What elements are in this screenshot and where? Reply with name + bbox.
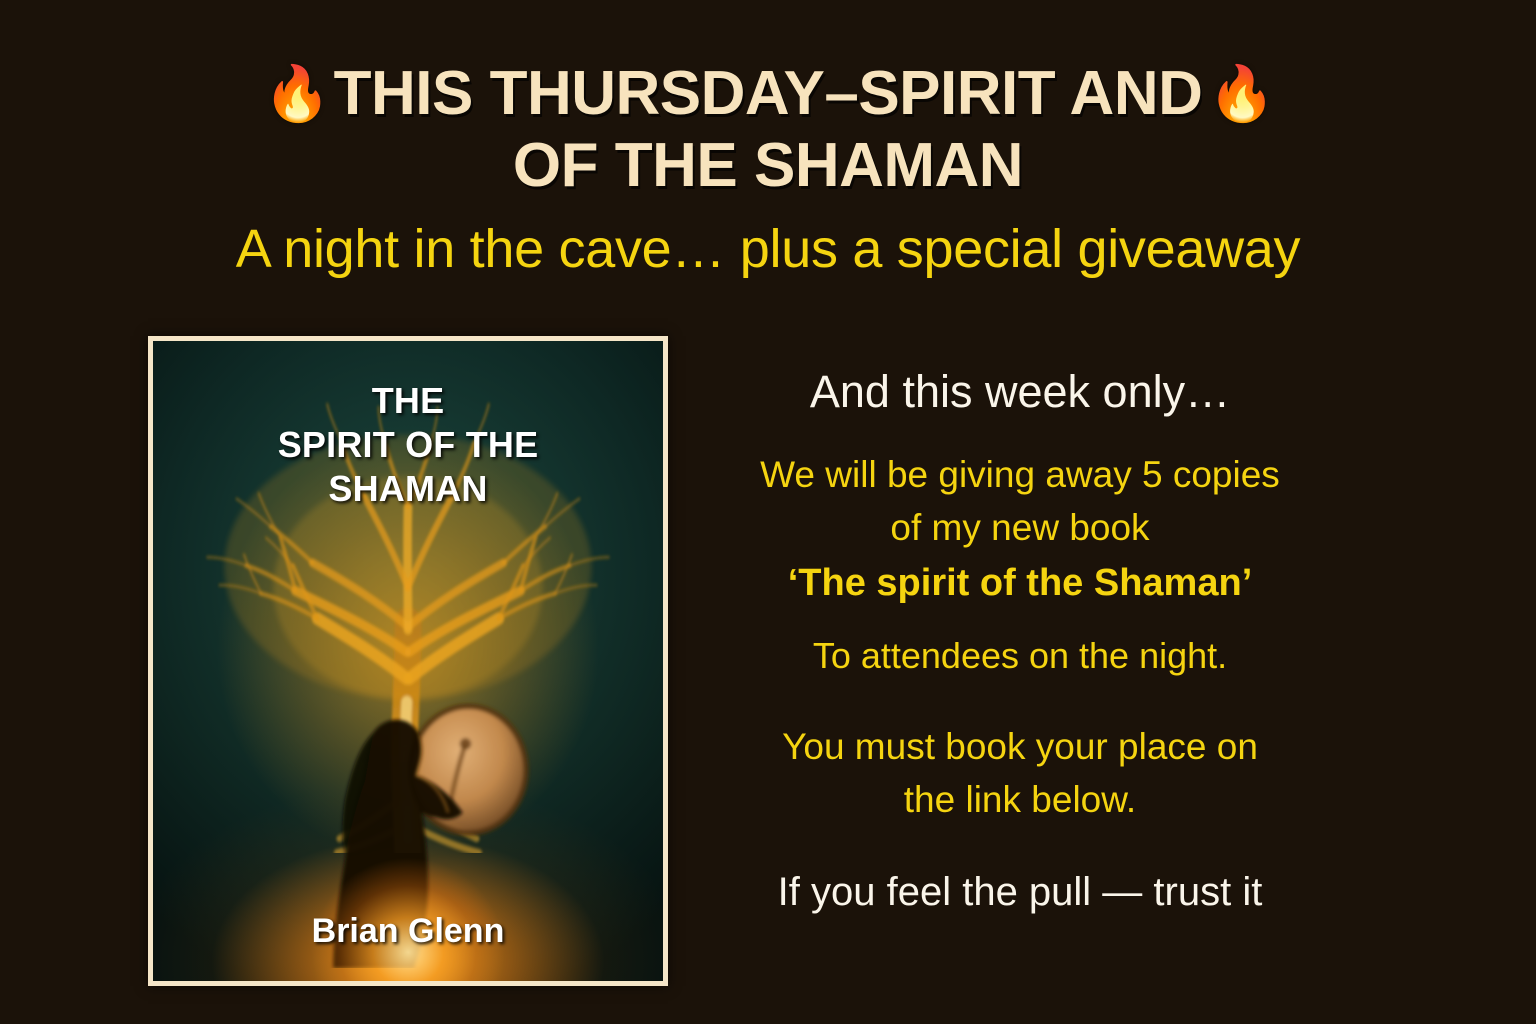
promo-line-2: of my new book	[690, 501, 1350, 554]
promo-line-3: To attendees on the night.	[690, 632, 1350, 680]
cover-title-line-1: THE	[153, 379, 663, 423]
promo-line-5: the link below.	[690, 773, 1350, 826]
promo-closing: If you feel the pull — trust it	[690, 866, 1350, 918]
fire-icon: 🔥	[264, 67, 328, 121]
cover-title: THE SPIRIT OF THE SHAMAN	[153, 379, 663, 511]
promo-book-title: ‘The spirit of the Shaman’	[690, 554, 1350, 612]
promo-column: And this week only… We will be giving aw…	[690, 364, 1350, 918]
main-title-line-2: OF THE SHAMAN	[0, 130, 1536, 202]
spacer	[690, 612, 1350, 632]
cover-author: Brian Glenn	[153, 911, 663, 951]
promo-line-4: You must book your place on	[690, 720, 1350, 773]
spacer	[690, 826, 1350, 866]
fire-icon: 🔥	[1208, 67, 1272, 121]
cover-title-line-3: SHAMAN	[153, 467, 663, 511]
promo-line-1: We will be giving away 5 copies	[690, 448, 1350, 501]
main-title-line-1: 🔥 THIS THURSDAY–SPIRIT AND 🔥	[0, 58, 1536, 130]
spacer	[690, 680, 1350, 720]
subtitle: A night in the cave… plus a special give…	[0, 218, 1536, 280]
header: 🔥 THIS THURSDAY–SPIRIT AND 🔥 OF THE SHAM…	[0, 0, 1536, 280]
cover-title-line-2: SPIRIT OF THE	[153, 423, 663, 467]
book-cover: THE SPIRIT OF THE SHAMAN Brian Glenn	[148, 336, 668, 986]
promo-headline: And this week only…	[690, 364, 1350, 420]
main-title-text: THIS THURSDAY–SPIRIT AND	[334, 58, 1203, 130]
